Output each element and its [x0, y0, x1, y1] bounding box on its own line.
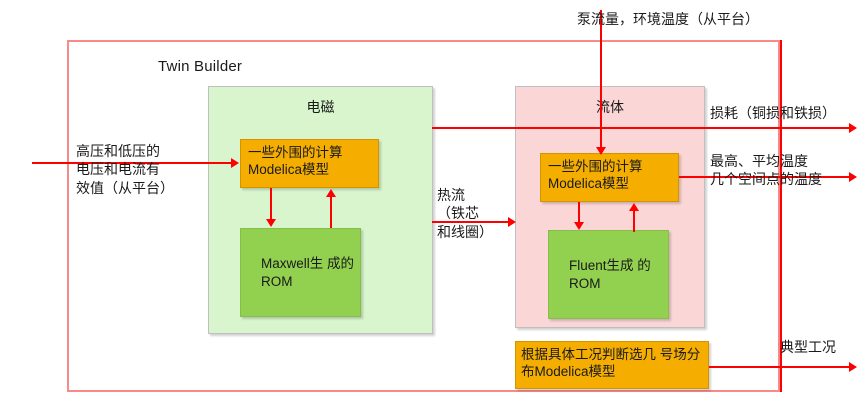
em-rom-to-modelica-connector	[330, 196, 332, 228]
em-rom-to-modelica-arrowhead	[326, 189, 336, 197]
output-condition-arrowhead	[849, 362, 857, 372]
input-top-connector	[600, 10, 602, 152]
panel-electromagnetic-title: 电磁	[209, 97, 432, 117]
fluent-rom-box: Fluent生成 的ROM	[548, 230, 669, 319]
input-top-label: 泵流量，环境温度（从平台）	[577, 10, 759, 28]
input-left-label: 高压和低压的 电压和电流有 效值（从平台）	[76, 142, 174, 197]
em-modelica-to-rom-arrowhead	[266, 219, 276, 227]
fluid-modelica-box: 一些外围的计算 Modelica模型	[540, 153, 679, 202]
electromagnetic-modelica-box: 一些外围的计算 Modelica模型	[240, 139, 379, 188]
output-temperature-arrowhead	[849, 172, 857, 182]
maxwell-rom-box: Maxwell生 成的ROM	[240, 228, 361, 317]
output-loss-arrowhead	[849, 123, 857, 133]
diagram-canvas: Twin Builder 电磁 一些外围的计算 Modelica模型 Maxwe…	[0, 0, 861, 408]
fluid-modelica-to-rom-arrowhead	[574, 222, 584, 230]
fluid-modelica-to-rom-connector	[578, 202, 580, 224]
working-condition-selector-box: 根据具体工况判断选几 号场分布Modelica模型	[515, 341, 709, 389]
maxwell-rom-label: Maxwell生 成的ROM	[241, 255, 360, 290]
output-loss-label: 损耗（铜损和铁损）	[710, 104, 836, 122]
heat-flow-label: 热流 （铁芯 和线圈）	[437, 186, 493, 241]
fluent-rom-label: Fluent生成 的ROM	[549, 257, 668, 292]
fluid-rom-to-modelica-arrowhead	[629, 203, 639, 211]
heat-flow-arrowhead	[508, 217, 516, 227]
panel-fluid-title: 流体	[516, 97, 704, 117]
twin-builder-label: Twin Builder	[158, 58, 242, 75]
input-top-arrowhead	[596, 147, 606, 155]
output-temperature-label: 最高、平均温度 几个空间点的温度	[710, 152, 822, 189]
em-modelica-to-rom-connector	[270, 188, 272, 220]
output-loss-connector	[432, 127, 852, 129]
output-condition-label: 典型工况	[780, 338, 836, 356]
input-left-arrowhead	[231, 158, 239, 168]
fluid-rom-to-modelica-connector	[633, 210, 635, 232]
